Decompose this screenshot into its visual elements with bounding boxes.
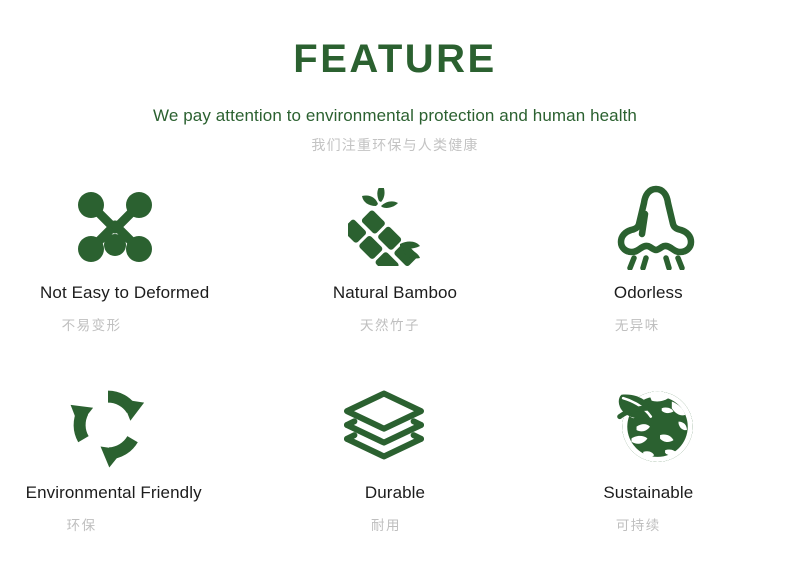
subtitle-english: We pay attention to environmental protec… (0, 106, 790, 126)
feature-label-en: Odorless (614, 283, 683, 303)
feature-label-cn: 可持续 (616, 514, 661, 534)
feature-label-en: Environmental Friendly (26, 483, 202, 503)
feature-label-en: Sustainable (603, 483, 693, 503)
feature-label-en: Not Easy to Deformed (40, 283, 209, 303)
feature-label-en: Durable (365, 483, 425, 503)
feature-label-cn: 环保 (67, 514, 97, 534)
feature-item-durable: Durable 耐用 (268, 373, 521, 569)
feature-item-environmental-friendly: Environmental Friendly 环保 (15, 373, 268, 569)
bamboo-stalks-icon (348, 177, 434, 277)
feature-item-natural-bamboo: Natural Bamboo 天然竹子 (268, 177, 521, 373)
feature-section: FEATURE We pay attention to environmenta… (0, 0, 790, 576)
feature-label-cn: 耐用 (371, 514, 401, 534)
stacked-layers-icon (341, 373, 427, 477)
page-title: FEATURE (0, 38, 790, 80)
feature-item-not-easy-to-deformed: Not Easy to Deformed 不易变形 (15, 177, 268, 373)
feature-label-en: Natural Bamboo (333, 283, 457, 303)
feature-item-odorless: Odorless 无异味 (522, 177, 775, 373)
nose-smell-icon (617, 177, 695, 277)
subtitle-chinese: 我们注重环保与人类健康 (0, 135, 790, 155)
feature-label-cn: 无异味 (615, 314, 660, 334)
feature-item-sustainable: Sustainable 可持续 (522, 373, 775, 569)
feature-grid: Not Easy to Deformed 不易变形 (15, 177, 775, 569)
globe-leaf-icon (613, 373, 697, 477)
molecule-lattice-icon (75, 177, 155, 277)
feature-label-cn: 不易变形 (62, 314, 122, 334)
section-header: FEATURE We pay attention to environmenta… (0, 0, 790, 155)
recycle-arrows-icon (65, 373, 151, 477)
feature-label-cn: 天然竹子 (360, 314, 420, 334)
